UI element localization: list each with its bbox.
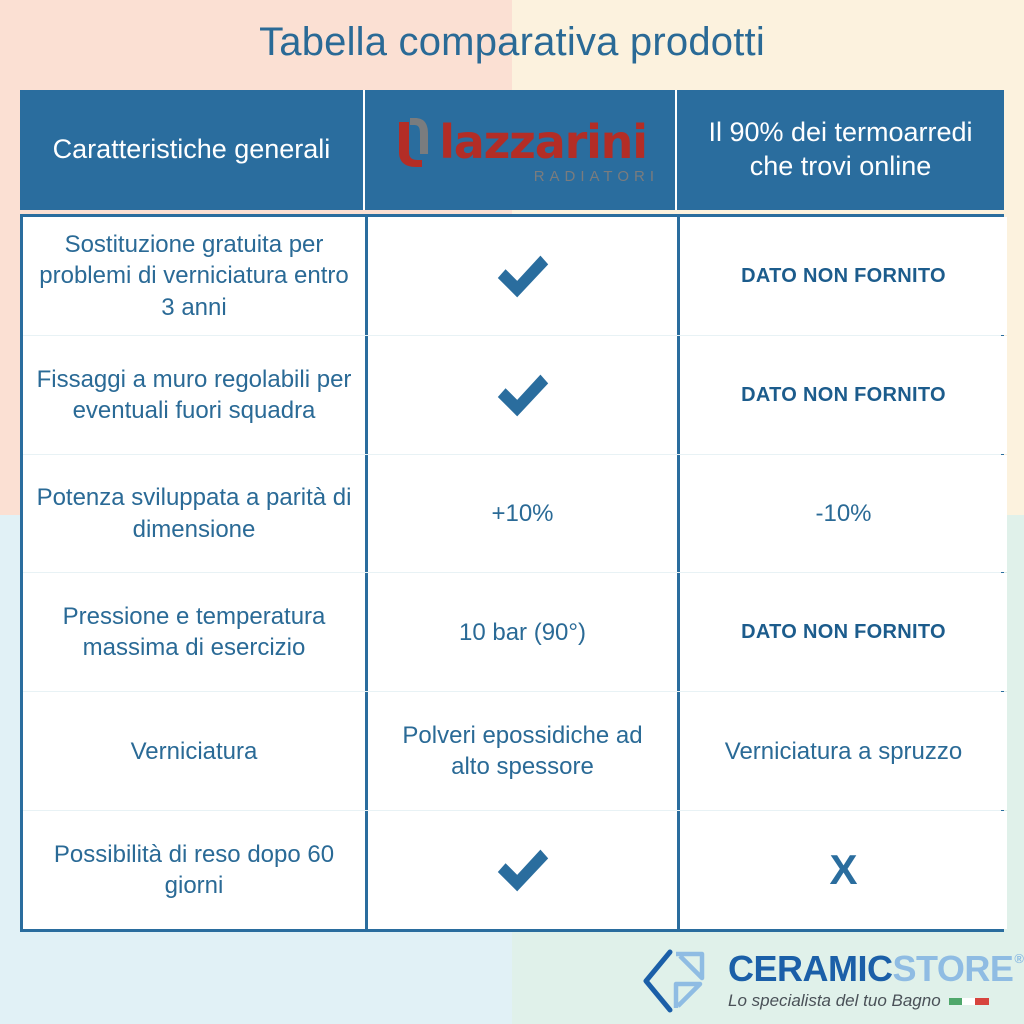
table-header-row: Caratteristiche generali lazzarini RADIA… bbox=[20, 90, 1004, 210]
row-lazzarini-value: 10 bar (90°) bbox=[368, 573, 680, 691]
registered-mark: ® bbox=[1014, 952, 1023, 965]
table-header-features: Caratteristiche generali bbox=[20, 90, 365, 210]
table-row: Verniciatura Polveri epossidiche ad alto… bbox=[23, 692, 1001, 811]
row-feature-label: Pressione e temperatura massima di eserc… bbox=[23, 573, 368, 691]
row-lazzarini-value bbox=[368, 217, 680, 335]
italian-flag-icon bbox=[949, 998, 989, 1005]
table-header-lazzarini: lazzarini RADIATORI bbox=[365, 90, 677, 210]
table-body: Sostituzione gratuita per problemi di ve… bbox=[20, 214, 1004, 932]
row-feature-label: Verniciatura bbox=[23, 692, 368, 810]
lazzarini-mark-icon bbox=[393, 114, 433, 170]
ceramicstore-text: CERAMICSTORE® Lo specialista del tuo Bag… bbox=[728, 951, 1023, 1011]
row-others-value: DATO NON FORNITO bbox=[680, 217, 1007, 335]
table-row: Possibilità di reso dopo 60 giorni X bbox=[23, 811, 1001, 929]
check-icon bbox=[492, 245, 554, 307]
table-row: Fissaggi a muro regolabili per eventuali… bbox=[23, 336, 1001, 455]
page-title: Tabella comparativa prodotti bbox=[0, 18, 1024, 66]
check-icon bbox=[492, 839, 554, 901]
table-row: Sostituzione gratuita per problemi di ve… bbox=[23, 217, 1001, 336]
ceramicstore-wordmark: CERAMICSTORE® bbox=[728, 951, 1023, 987]
comparison-table: Caratteristiche generali lazzarini RADIA… bbox=[20, 90, 1004, 932]
row-lazzarini-value: +10% bbox=[368, 455, 680, 573]
ceramicstore-tagline: Lo specialista del tuo Bagno bbox=[728, 991, 941, 1011]
row-feature-label: Potenza sviluppata a parità di dimension… bbox=[23, 455, 368, 573]
brand-part-store: STORE bbox=[893, 951, 1014, 987]
row-feature-label: Possibilità di reso dopo 60 giorni bbox=[23, 811, 368, 929]
lazzarini-tagline: RADIATORI bbox=[534, 168, 665, 187]
lazzarini-lockup: lazzarini bbox=[393, 114, 647, 170]
table-row: Potenza sviluppata a parità di dimension… bbox=[23, 455, 1001, 574]
check-icon bbox=[492, 364, 554, 426]
x-mark-icon: X bbox=[829, 849, 857, 891]
ceramicstore-mark-icon bbox=[640, 944, 714, 1018]
flag-stripe-white bbox=[962, 998, 975, 1005]
row-others-value: DATO NON FORNITO bbox=[680, 573, 1007, 691]
table-header-others: Il 90% dei termoarredi che trovi online bbox=[677, 90, 1004, 210]
flag-stripe-red bbox=[975, 998, 988, 1005]
row-others-value: DATO NON FORNITO bbox=[680, 336, 1007, 454]
ceramicstore-logo: CERAMICSTORE® Lo specialista del tuo Bag… bbox=[640, 944, 1023, 1018]
row-feature-label: Sostituzione gratuita per problemi di ve… bbox=[23, 217, 368, 335]
lazzarini-logo: lazzarini RADIATORI bbox=[375, 114, 665, 187]
lazzarini-wordmark: lazzarini bbox=[439, 119, 647, 165]
row-others-value: X bbox=[680, 811, 1007, 929]
row-lazzarini-value: Polveri epossidiche ad alto spessore bbox=[368, 692, 680, 810]
row-feature-label: Fissaggi a muro regolabili per eventuali… bbox=[23, 336, 368, 454]
flag-stripe-green bbox=[949, 998, 962, 1005]
ceramicstore-tagline-row: Lo specialista del tuo Bagno bbox=[728, 991, 1023, 1011]
row-lazzarini-value bbox=[368, 811, 680, 929]
row-others-value: -10% bbox=[680, 455, 1007, 573]
brand-part-ceramic: CERAMIC bbox=[728, 951, 893, 987]
table-row: Pressione e temperatura massima di eserc… bbox=[23, 573, 1001, 692]
row-lazzarini-value bbox=[368, 336, 680, 454]
row-others-value: Verniciatura a spruzzo bbox=[680, 692, 1007, 810]
